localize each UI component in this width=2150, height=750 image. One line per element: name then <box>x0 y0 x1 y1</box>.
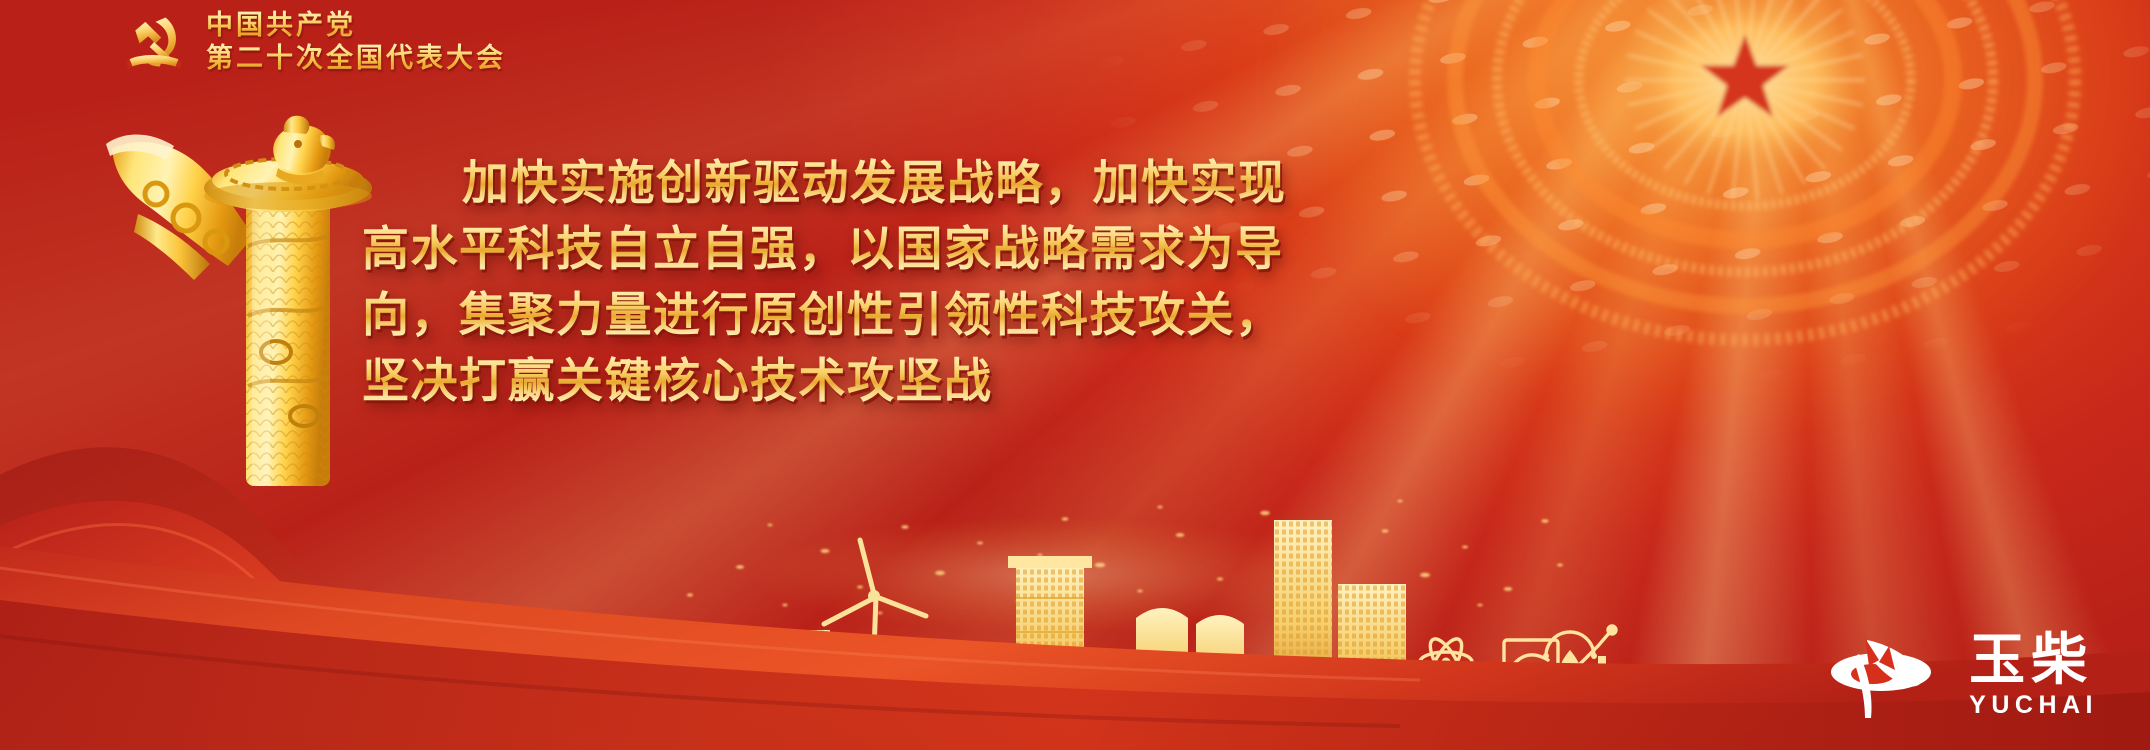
star-icon <box>1701 34 1789 117</box>
promotional-banner: 中国共产党 第二十次全国代表大会 <box>0 0 2150 750</box>
city-skyline-and-tech-icons <box>560 512 1620 742</box>
congress-line-1: 中国共产党 <box>206 10 506 41</box>
headline-line-4: 坚决打赢关键核心技术攻坚战 <box>362 348 1662 414</box>
brand-name-cn: 玉柴 <box>1969 631 2093 688</box>
yuchai-logo-mark-icon <box>1829 630 1949 722</box>
wind-turbine-icon <box>824 540 926 708</box>
hammer-and-sickle-icon <box>118 6 190 78</box>
pagoda-tower-icon <box>1008 556 1092 712</box>
headline-line-3: 向，集聚力量进行原创性引领性科技攻关， <box>362 282 1662 348</box>
headline-block: 加快实施创新驱动发展战略，加快实现 高水平科技自立自强，以国家战略需求为导 向，… <box>362 150 1662 414</box>
headline-line-2: 高水平科技自立自强，以国家战略需求为导 <box>362 216 1662 282</box>
bottom-silk-wave-decoration <box>0 450 2150 750</box>
growth-chart-icon <box>1568 626 1616 698</box>
tech-circle-icon <box>1543 632 1597 686</box>
huabiao-column-decoration <box>78 96 408 486</box>
silo-building-icon <box>1136 608 1244 710</box>
skyscraper-icon <box>1274 520 1406 710</box>
atom-icon <box>1420 634 1472 689</box>
headline-line-1: 加快实施创新驱动发展战略，加快实现 <box>362 150 1662 216</box>
golden-sparkle-decoration <box>620 455 1600 635</box>
brand-name-en: YUCHAI <box>1969 690 2098 721</box>
congress-line-2: 第二十次全国代表大会 <box>206 43 506 74</box>
yuchai-brand-logo: 玉柴 YUCHAI <box>1829 630 2098 722</box>
congress-logo: 中国共产党 第二十次全国代表大会 <box>118 6 506 78</box>
monitor-icon <box>1504 640 1558 688</box>
